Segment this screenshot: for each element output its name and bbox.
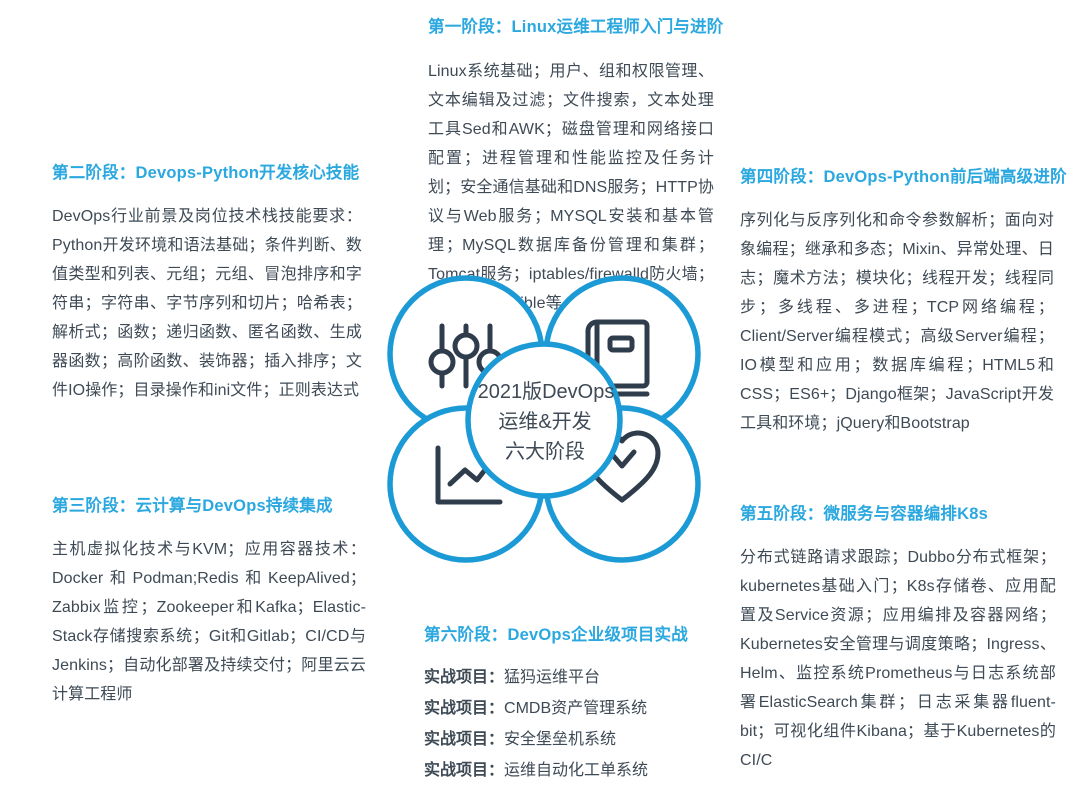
project-list-item: 实战项目：Devos持续集成发布系统 <box>424 786 724 792</box>
center-hub-circle <box>468 344 620 496</box>
stage-two-block: 第二阶段：Devops-Python开发核心技能 DevOps行业前景及岗位技术… <box>52 162 362 405</box>
project-list: 实战项目：猛犸运维平台实战项目：CMDB资产管理系统实战项目：安全堡垒机系统实战… <box>424 662 724 792</box>
stage-two-title: 第二阶段：Devops-Python开发核心技能 <box>52 162 362 184</box>
stage-four-block: 第四阶段：DevOps-Python前后端高级进阶 序列化与反序列化和命令参数解… <box>740 166 1054 438</box>
project-list-item: 实战项目：CMDB资产管理系统 <box>424 693 724 724</box>
project-label: 实战项目： <box>424 700 504 717</box>
stage-four-title: 第四阶段：DevOps-Python前后端高级进阶 <box>740 166 1054 188</box>
project-name: 安全堡垒机系统 <box>504 731 616 748</box>
project-list-item: 实战项目：运维自动化工单系统 <box>424 755 724 786</box>
stage-five-title: 第五阶段：微服务与容器编排K8s <box>740 503 1056 525</box>
stage-one-title: 第一阶段：Linux运维工程师入门与进阶 <box>428 16 714 38</box>
stage-five-body: 分布式链路请求跟踪；Dubbo分布式框架；kubernetes基础入门；K8s存… <box>740 543 1056 775</box>
stage-three-body: 主机虚拟化技术与KVM；应用容器技术：Docker和Podman;Redis和K… <box>52 535 366 709</box>
project-list-item: 实战项目：猛犸运维平台 <box>424 662 724 693</box>
stage-two-body: DevOps行业前景及岗位技术栈技能要求：Python开发环境和语法基础；条件判… <box>52 202 362 405</box>
center-circles-graphic <box>370 262 720 582</box>
stage-six-block: 第六阶段：DevOps企业级项目实战 实战项目：猛犸运维平台实战项目：CMDB资… <box>424 624 724 792</box>
project-name: CMDB资产管理系统 <box>504 700 647 717</box>
project-name: 运维自动化工单系统 <box>504 762 648 779</box>
project-label: 实战项目： <box>424 762 504 779</box>
stage-five-block: 第五阶段：微服务与容器编排K8s 分布式链路请求跟踪；Dubbo分布式框架；ku… <box>740 503 1056 775</box>
project-name: 猛犸运维平台 <box>504 669 600 686</box>
project-label: 实战项目： <box>424 731 504 748</box>
infographic-page: 第一阶段：Linux运维工程师入门与进阶 Linux系统基础；用户、组和权限管理… <box>0 0 1080 792</box>
stage-three-title: 第三阶段：云计算与DevOps持续集成 <box>52 495 366 517</box>
project-list-item: 实战项目：安全堡垒机系统 <box>424 724 724 755</box>
project-label: 实战项目： <box>424 669 504 686</box>
stage-six-title: 第六阶段：DevOps企业级项目实战 <box>424 624 724 646</box>
stage-four-body: 序列化与反序列化和命令参数解析；面向对象编程；继承和多态；Mixin、异常处理、… <box>740 206 1054 438</box>
stage-three-block: 第三阶段：云计算与DevOps持续集成 主机虚拟化技术与KVM；应用容器技术：D… <box>52 495 366 709</box>
